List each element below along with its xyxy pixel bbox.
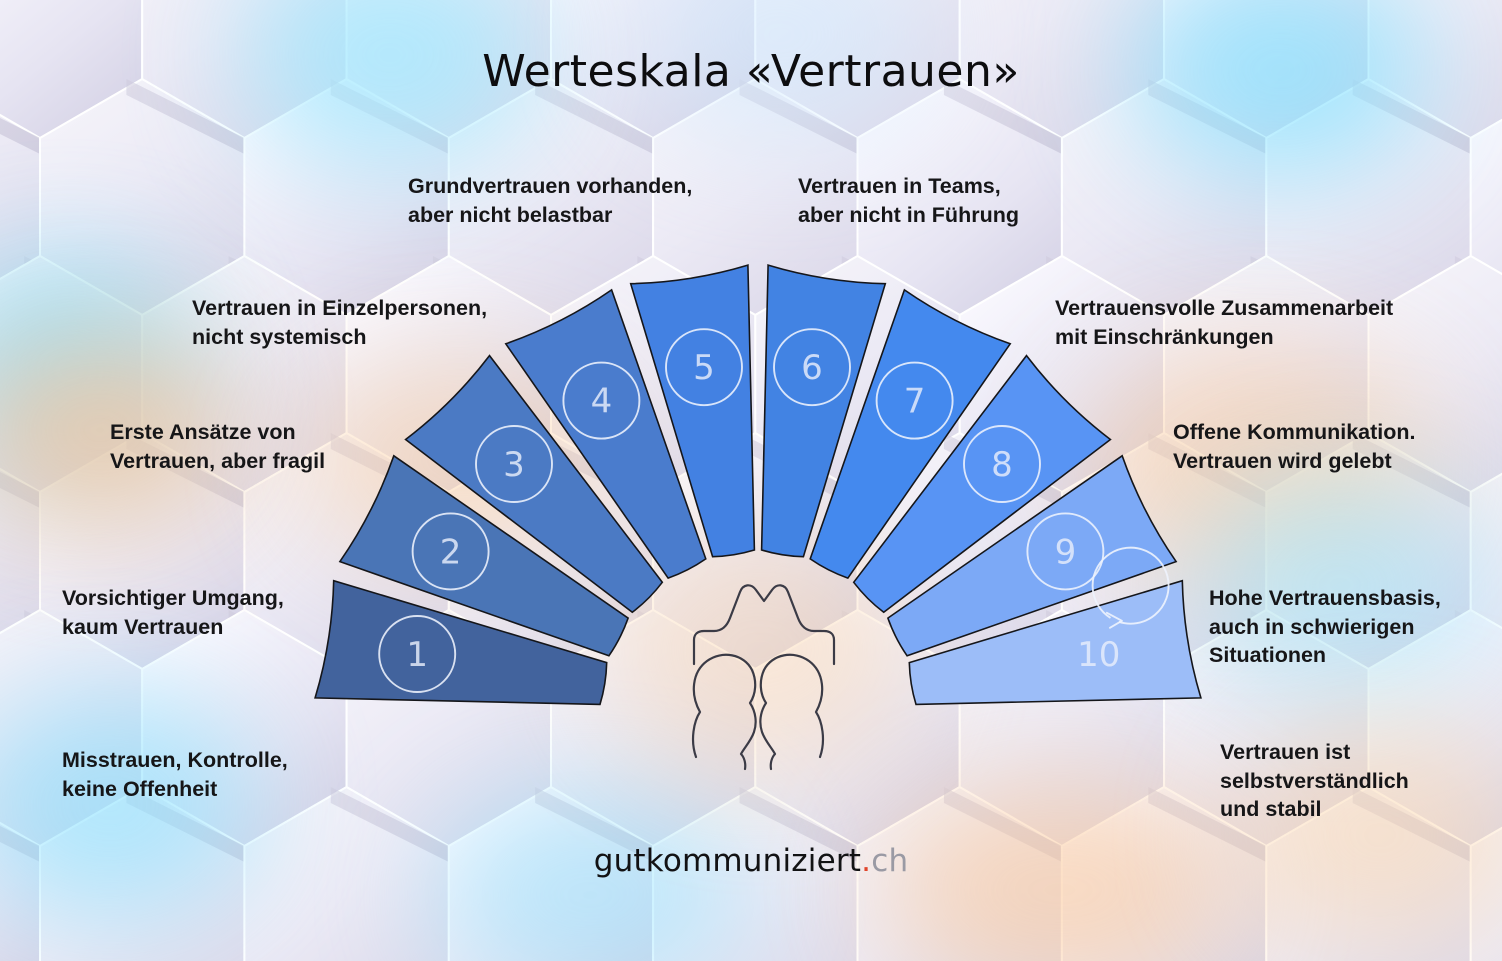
segment-label-4: Vertrauen in Einzelpersonen, nicht syste… bbox=[192, 294, 572, 351]
segment-number-4: 4 bbox=[591, 382, 613, 422]
segment-number-6: 6 bbox=[801, 348, 823, 388]
segment-label-7: Vertrauensvolle Zusammenarbeit mit Einsc… bbox=[1055, 294, 1485, 351]
segment-label-3: Erste Ansätze von Vertrauen, aber fragil bbox=[110, 418, 440, 475]
segment-label-1: Misstrauen, Kontrolle, keine Offenheit bbox=[62, 746, 392, 803]
segment-label-9: Hohe Vertrauensbasis, auch in schwierige… bbox=[1209, 584, 1502, 670]
segment-label-2: Vorsichtiger Umgang, kaum Vertrauen bbox=[62, 584, 392, 641]
segment-label-5: Grundvertrauen vorhanden, aber nicht bel… bbox=[408, 172, 808, 229]
segment-number-8: 8 bbox=[991, 445, 1013, 485]
segment-number-5: 5 bbox=[693, 348, 715, 388]
two-facing-heads-icon bbox=[693, 585, 834, 769]
segment-label-6: Vertrauen in Teams, aber nicht in Führun… bbox=[798, 172, 1178, 229]
footer-dot: . bbox=[861, 843, 871, 879]
segment-number-7: 7 bbox=[904, 382, 926, 422]
footer-tld: ch bbox=[871, 843, 908, 879]
footer-brand-name: gutkommuniziert bbox=[594, 843, 861, 879]
infographic-canvas: Werteskala «Vertrauen» 12345678910 Misst… bbox=[0, 0, 1502, 961]
segment-number-9: 9 bbox=[1055, 532, 1077, 572]
segment-number-10: 10 bbox=[1077, 635, 1120, 675]
segment-number-1: 1 bbox=[406, 635, 428, 675]
segment-label-10: Vertrauen ist selbstverständlich und sta… bbox=[1220, 738, 1502, 824]
segment-number-3: 3 bbox=[503, 445, 525, 485]
footer-brand: gutkommuniziert.ch bbox=[0, 843, 1502, 879]
segment-number-2: 2 bbox=[440, 532, 462, 572]
segment-label-8: Offene Kommunikation. Vertrauen wird gel… bbox=[1173, 418, 1502, 475]
